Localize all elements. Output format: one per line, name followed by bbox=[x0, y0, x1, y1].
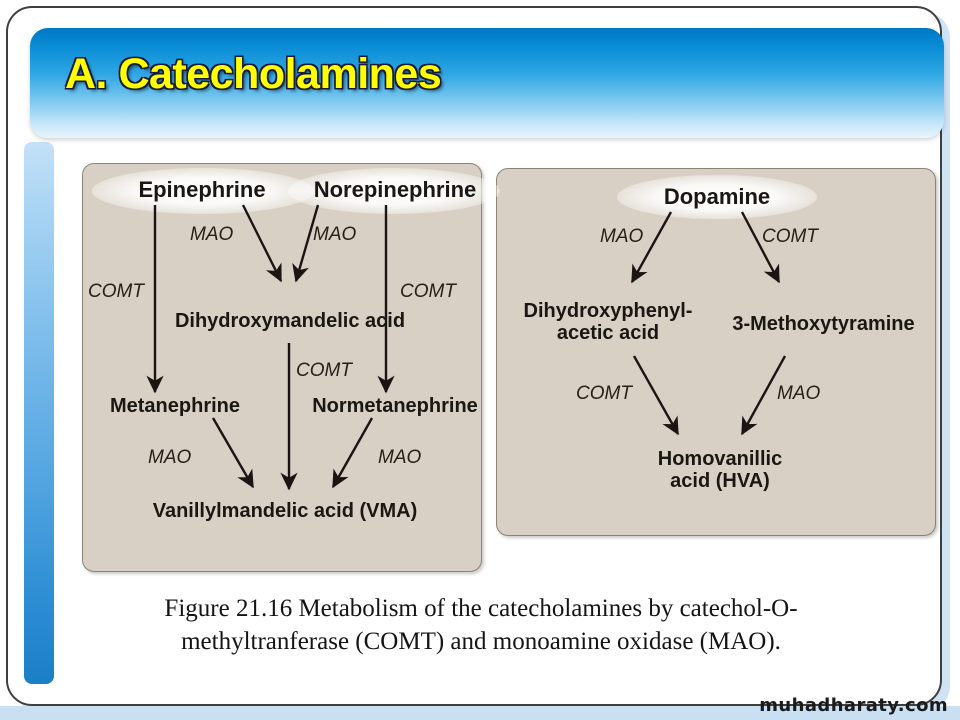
enzyme-label-mao-ne-dhma: MAO bbox=[313, 224, 356, 246]
enzyme-label-mao-norm-vma: MAO bbox=[378, 447, 421, 469]
enzyme-label-mao-epi-dhma: MAO bbox=[190, 224, 233, 246]
enzyme-label-comt-dop-3mt: COMT bbox=[762, 226, 818, 248]
node-metanephrine: Metanephrine bbox=[95, 395, 255, 417]
watermark-text: muhadharaty.com bbox=[759, 695, 948, 716]
node-homovanillic-acid: Homovanillic acid (HVA) bbox=[620, 448, 820, 493]
enzyme-label-mao-meta-vma: MAO bbox=[148, 447, 191, 469]
node-dopamine: Dopamine bbox=[617, 185, 817, 210]
node-norepinephrine: Norepinephrine bbox=[295, 178, 495, 203]
sidebar-accent-bar bbox=[24, 142, 54, 684]
node-vanillylmandelic-acid: Vanillylmandelic acid (VMA) bbox=[110, 500, 460, 522]
figure-caption: Figure 21.16 Metabolism of the catechola… bbox=[100, 592, 862, 658]
enzyme-label-comt-ne-norm: COMT bbox=[400, 281, 456, 303]
slide: A. Catecholamines bbox=[0, 0, 960, 720]
enzyme-label-mao-3mt-hva: MAO bbox=[777, 383, 820, 405]
enzyme-label-comt-dhma-vma: COMT bbox=[296, 360, 352, 382]
node-3-methoxytyramine: 3-Methoxytyramine bbox=[716, 313, 931, 335]
enzyme-label-comt-epi-meta: COMT bbox=[88, 281, 144, 303]
node-dihydroxymandelic-acid: Dihydroxymandelic acid bbox=[140, 310, 440, 332]
title-banner: A. Catecholamines bbox=[30, 28, 944, 138]
node-dihydroxyphenylacetic-acid: Dihydroxyphenyl- acetic acid bbox=[508, 300, 708, 345]
enzyme-label-comt-dopac-hva: COMT bbox=[576, 383, 632, 405]
page-title: A. Catecholamines bbox=[65, 50, 441, 99]
node-epinephrine: Epinephrine bbox=[102, 178, 302, 203]
node-normetanephrine: Normetanephrine bbox=[300, 395, 490, 417]
enzyme-label-mao-dop-dopac: MAO bbox=[600, 226, 643, 248]
